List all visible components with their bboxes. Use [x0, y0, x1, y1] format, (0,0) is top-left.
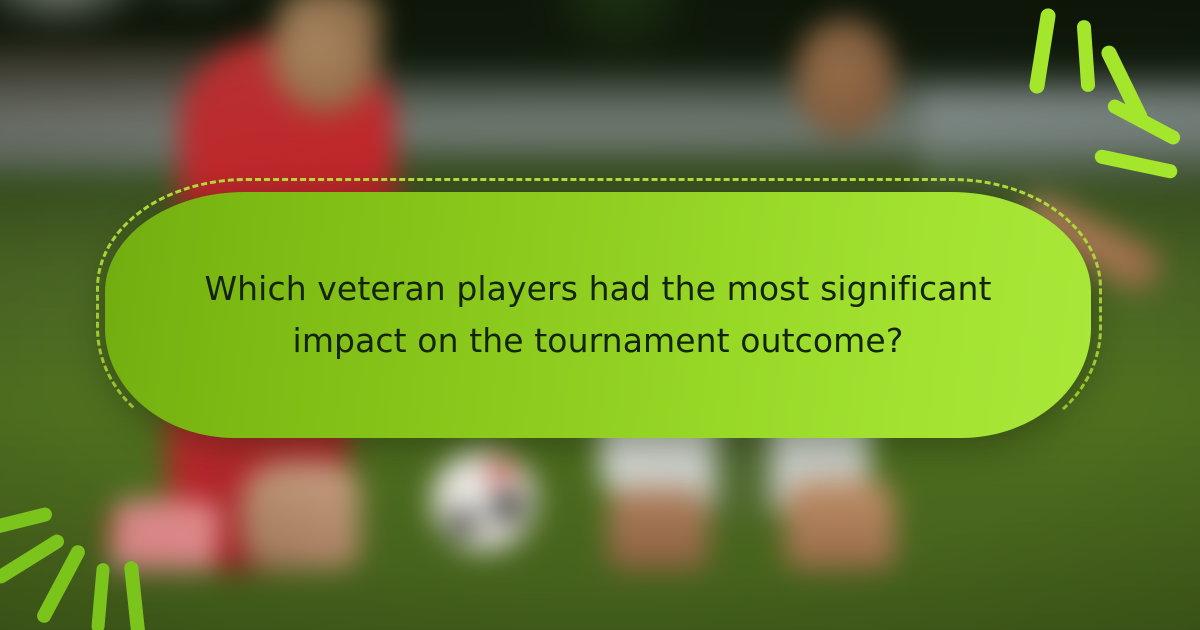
sparkle-stroke: [1077, 20, 1096, 93]
social-card-canvas: Which veteran players had the most signi…: [0, 0, 1200, 630]
sparkle-stroke: [0, 506, 53, 540]
sparkle-burst-top-right: [1017, 4, 1192, 164]
sparkle-stroke: [1028, 7, 1056, 94]
sparkle-burst-bottom-left: [2, 463, 177, 628]
question-text: Which veteran players had the most signi…: [120, 263, 1075, 367]
sparkle-stroke: [124, 560, 147, 630]
question-line-2: impact on the tournament outcome?: [293, 321, 904, 360]
question-line-1: Which veteran players had the most signi…: [204, 269, 991, 308]
sparkle-stroke: [1105, 97, 1182, 147]
sparkle-stroke: [91, 563, 110, 630]
question-card: Which veteran players had the most signi…: [105, 192, 1091, 438]
